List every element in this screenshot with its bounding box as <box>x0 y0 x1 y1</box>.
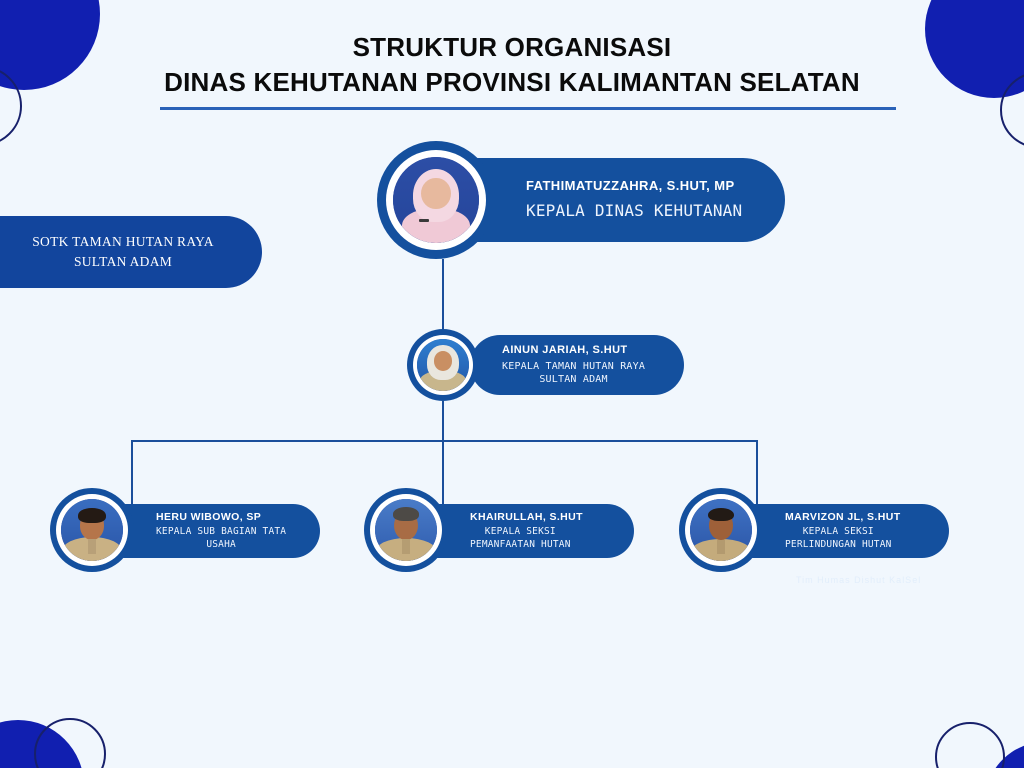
title-line-1: STRUKTUR ORGANISASI <box>0 30 1024 65</box>
watermark-text: Tim Humas Dishut KalSel <box>796 575 921 585</box>
portrait-photo <box>417 339 469 391</box>
connector-level3-bus <box>131 440 758 442</box>
portrait-photo <box>61 499 123 561</box>
org-node-name: MARVIZON JL, S.HUT <box>785 511 901 523</box>
org-node-name: FATHIMATUZZAHRA, S.HUT, MP <box>526 178 735 193</box>
portrait-photo <box>375 499 437 561</box>
title-line-2: DINAS KEHUTANAN PROVINSI KALIMANTAN SELA… <box>0 65 1024 100</box>
avatar-kasi-perlindungan-hutan <box>679 488 763 572</box>
org-chart-canvas: STRUKTUR ORGANISASI DINAS KEHUTANAN PROV… <box>0 0 1024 768</box>
org-node-role: KEPALA TAMAN HUTAN RAYA SULTAN ADAM <box>502 360 645 387</box>
org-node-role: KEPALA SUB BAGIAN TATA USAHA <box>156 526 286 552</box>
org-node-name: KHAIRULLAH, S.HUT <box>470 511 583 523</box>
decorative-ring-bottom-right <box>935 722 1005 768</box>
org-node-role: KEPALA SEKSI PERLINDUNGAN HUTAN <box>785 526 892 552</box>
portrait-photo <box>393 157 479 243</box>
connector-level1-to-level2 <box>442 259 444 331</box>
org-node-role: KEPALA DINAS KEHUTANAN <box>526 200 742 222</box>
page-title: STRUKTUR ORGANISASI DINAS KEHUTANAN PROV… <box>0 30 1024 99</box>
side-banner-sotk: SOTK TAMAN HUTAN RAYA SULTAN ADAM <box>0 216 262 288</box>
connector-drop-right <box>756 440 758 506</box>
connector-drop-center <box>442 440 444 506</box>
connector-level2-stem <box>442 401 444 441</box>
org-node-name: HERU WIBOWO, SP <box>156 511 261 523</box>
title-underline <box>160 107 896 110</box>
side-banner-label: SOTK TAMAN HUTAN RAYA SULTAN ADAM <box>6 232 240 271</box>
portrait-photo <box>690 499 752 561</box>
connector-drop-left <box>131 440 133 506</box>
avatar-kepala-tahura <box>407 329 479 401</box>
org-node-card-kepala-tahura[interactable]: AINUN JARIAH, S.HUT KEPALA TAMAN HUTAN R… <box>470 335 684 395</box>
avatar-kepala-dinas <box>377 141 495 259</box>
avatar-kasubbag-tata-usaha <box>50 488 134 572</box>
org-node-role: KEPALA SEKSI PEMANFAATAN HUTAN <box>470 526 571 552</box>
avatar-kasi-pemanfaatan-hutan <box>364 488 448 572</box>
org-node-name: AINUN JARIAH, S.HUT <box>502 344 628 356</box>
